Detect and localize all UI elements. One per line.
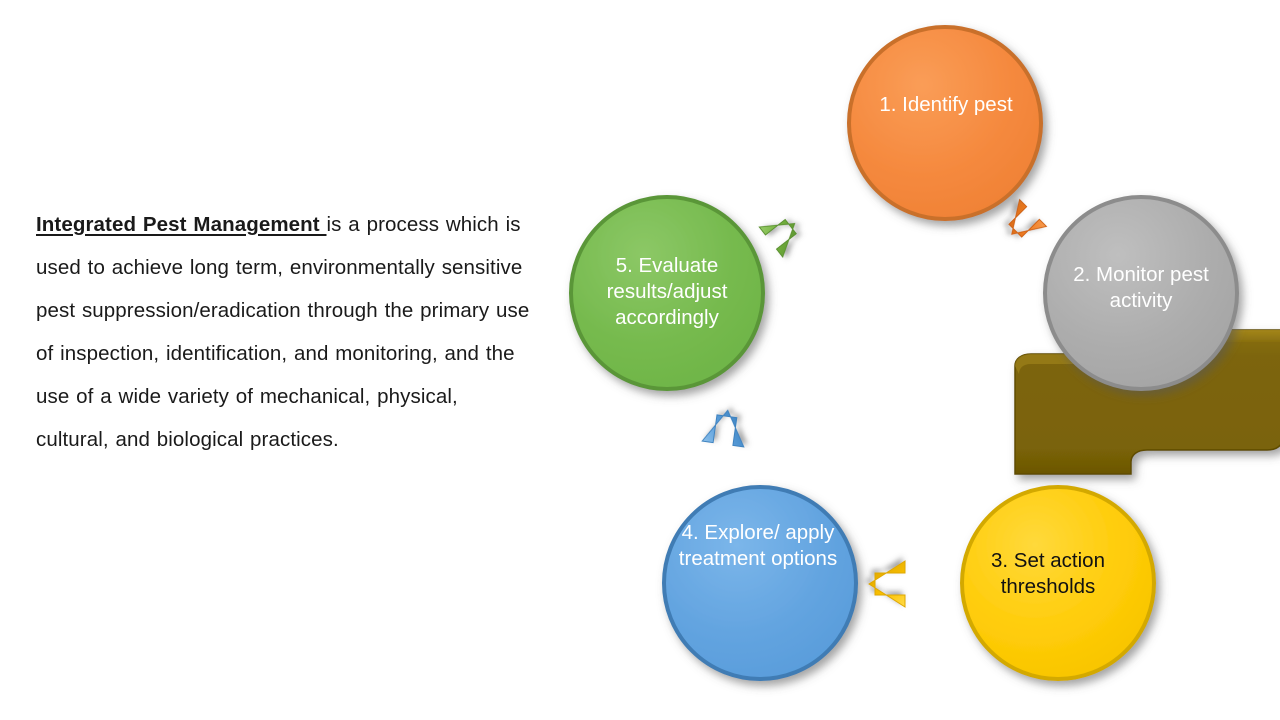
step-node-3[interactable] bbox=[962, 487, 1154, 679]
step-node-1[interactable] bbox=[849, 27, 1041, 219]
description-panel: Integrated Pest Management is a process … bbox=[36, 182, 531, 481]
arrow-1-to-2-icon bbox=[998, 200, 1046, 248]
description-paragraph: Integrated Pest Management is a process … bbox=[36, 203, 531, 461]
step-node-5[interactable] bbox=[571, 197, 763, 389]
arrow-5-to-1-icon bbox=[759, 209, 806, 257]
cycle-diagram-svg bbox=[555, 0, 1280, 720]
step-node-2[interactable] bbox=[1045, 197, 1237, 389]
ipm-cycle-diagram: 1. Identify pest 2. Monitor pest activit… bbox=[555, 0, 1280, 720]
arrow-3-to-4-icon bbox=[869, 561, 905, 607]
step-node-4[interactable] bbox=[664, 487, 856, 679]
description-lead-term: Integrated Pest Management bbox=[36, 213, 327, 236]
description-body-text: is a process which is used to achieve lo… bbox=[36, 213, 529, 451]
arrow-4-to-5-icon bbox=[702, 407, 748, 447]
